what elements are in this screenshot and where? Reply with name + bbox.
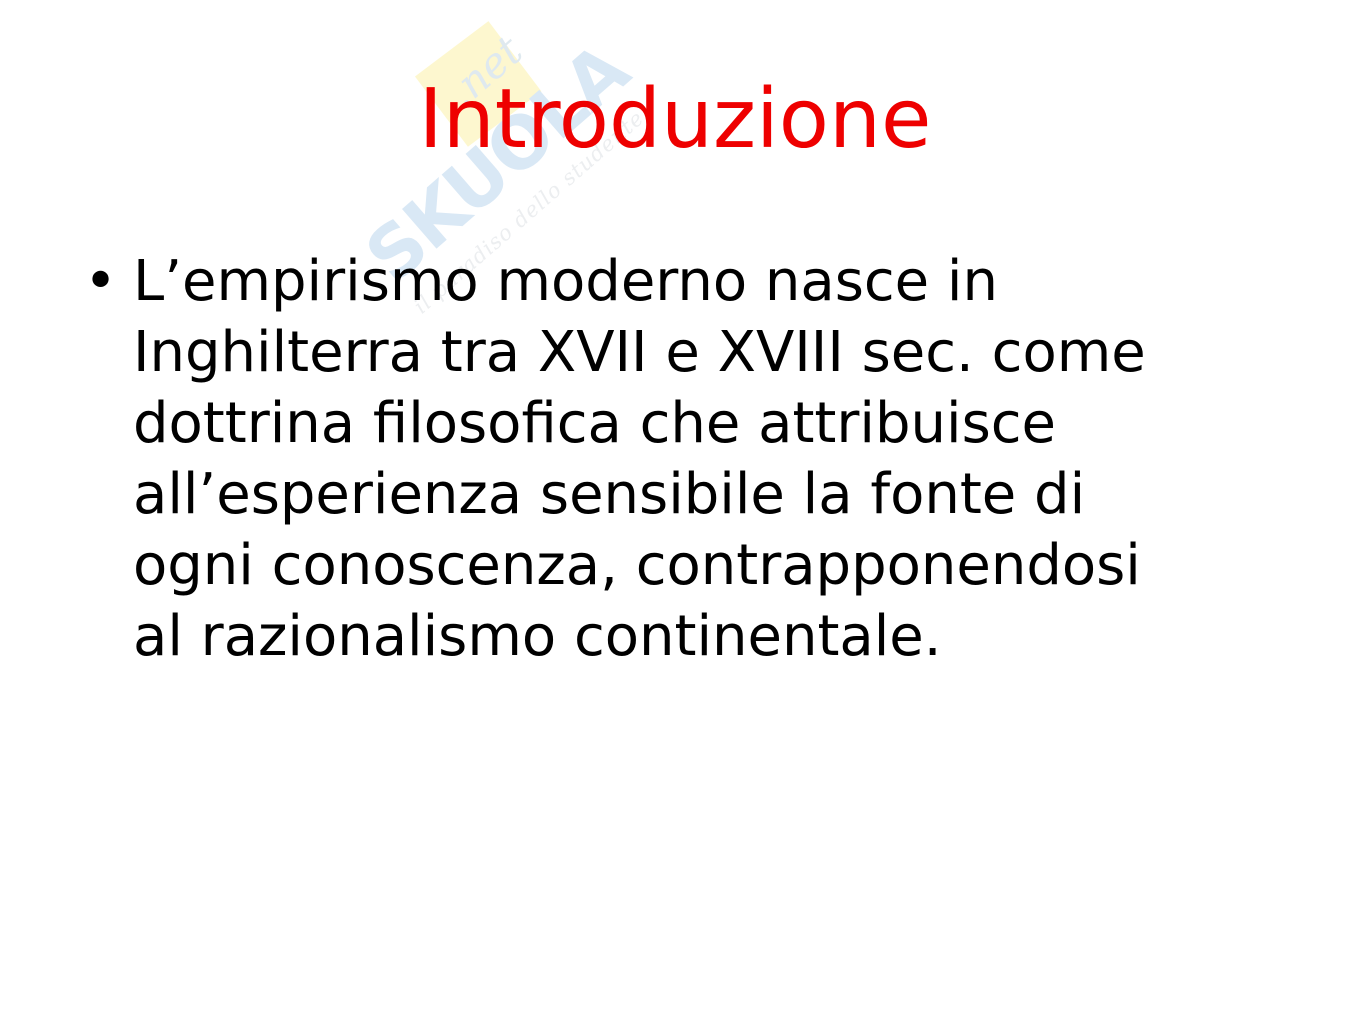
bullet-item-text: L’empirismo moderno nasce in Inghilterra… bbox=[133, 246, 1270, 672]
bullet-list-item: • L’empirismo moderno nasce in Inghilter… bbox=[70, 246, 1270, 672]
presentation-slide: SKUOLA .net il paradiso dello studente I… bbox=[0, 0, 1350, 1013]
bullet-text-line: L’empirismo moderno nasce in bbox=[133, 246, 1270, 317]
bullet-text-line: al razionalismo continentale. bbox=[133, 601, 1270, 672]
slide-body: • L’empirismo moderno nasce in Inghilter… bbox=[70, 246, 1270, 672]
bullet-text-line: dottrina filosofica che attribuisce bbox=[133, 388, 1270, 459]
bullet-text-line: all’esperienza sensibile la fonte di bbox=[133, 459, 1270, 530]
slide-title: Introduzione bbox=[0, 76, 1350, 165]
bullet-point-icon: • bbox=[84, 246, 117, 317]
bullet-text-line: Inghilterra tra XVII e XVIII sec. come bbox=[133, 317, 1270, 388]
bullet-text-line: ogni conoscenza, contrapponendosi bbox=[133, 530, 1270, 601]
